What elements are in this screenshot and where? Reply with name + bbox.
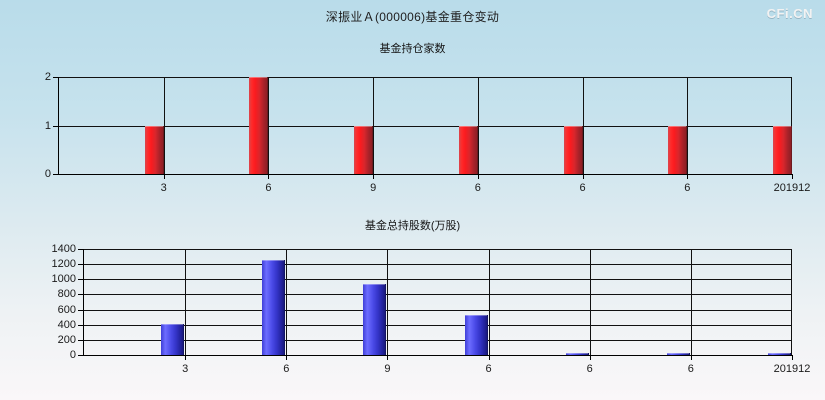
x-axis-tick xyxy=(687,174,688,179)
bar-top-highlight xyxy=(768,353,790,354)
bar-top-highlight xyxy=(354,126,372,127)
y-axis-tick xyxy=(78,279,84,280)
x-axis-label: 6 xyxy=(688,363,694,375)
gridline-vertical xyxy=(185,249,186,355)
x-axis-tick xyxy=(164,174,165,179)
gridline-vertical xyxy=(478,77,479,174)
bar-top-highlight xyxy=(773,126,791,127)
bar xyxy=(667,353,690,355)
gridline-vertical xyxy=(791,249,792,355)
y-axis-label: 400 xyxy=(58,319,76,331)
bar-top-highlight xyxy=(262,260,284,261)
bar xyxy=(768,353,791,355)
x-axis-label: 3 xyxy=(182,363,188,375)
x-axis-label: 6 xyxy=(486,363,492,375)
gridline-horizontal xyxy=(84,294,792,295)
bar-top-highlight xyxy=(363,284,385,285)
y-axis-label: 600 xyxy=(58,304,76,316)
gridline-vertical xyxy=(164,77,165,174)
gridline-vertical xyxy=(286,249,287,355)
x-axis-label: 3 xyxy=(161,182,167,194)
x-axis-tick xyxy=(590,355,591,360)
bar xyxy=(465,315,488,355)
x-axis-tick xyxy=(268,174,269,179)
gridline-horizontal xyxy=(84,249,792,250)
y-axis-tick xyxy=(78,325,84,326)
bar-top-highlight xyxy=(465,315,487,316)
y-axis-tick xyxy=(78,264,84,265)
bar xyxy=(773,126,792,175)
x-axis-label: 9 xyxy=(384,363,390,375)
x-axis-label: 6 xyxy=(684,182,690,194)
bar xyxy=(564,126,583,175)
y-axis-label: 200 xyxy=(58,334,76,346)
x-axis-tick xyxy=(792,355,793,360)
chart-page: 深振业Ａ(000006)基金重仓变动 CFi.CN 基金持仓家数 基金总持股数(… xyxy=(0,0,825,400)
chart2-title: 基金总持股数(万股) xyxy=(0,217,825,233)
bar-top-highlight xyxy=(566,353,588,354)
bar xyxy=(262,260,285,355)
x-axis-label: 6 xyxy=(475,182,481,194)
gridline-vertical xyxy=(489,249,490,355)
y-axis-tick xyxy=(53,174,59,175)
x-axis-label: 201912 xyxy=(774,363,811,375)
x-axis-label: 6 xyxy=(587,363,593,375)
y-axis-tick xyxy=(78,355,84,356)
x-axis-tick xyxy=(583,174,584,179)
bar-top-highlight xyxy=(564,126,582,127)
site-watermark: CFi.CN xyxy=(767,6,813,21)
x-axis-label: 6 xyxy=(265,182,271,194)
x-axis-label: 9 xyxy=(370,182,376,194)
chart1-plot-area: 012369666201912 xyxy=(58,77,792,175)
x-axis-tick xyxy=(691,355,692,360)
chart1-title: 基金持仓家数 xyxy=(0,40,825,56)
x-axis-tick xyxy=(387,355,388,360)
bar xyxy=(363,284,386,355)
y-axis-tick xyxy=(78,340,84,341)
gridline-vertical xyxy=(687,77,688,174)
y-axis-tick xyxy=(78,294,84,295)
bar xyxy=(668,126,687,175)
gridline-horizontal xyxy=(59,77,792,78)
y-axis-label: 1200 xyxy=(52,258,76,270)
fund-total-shares-chart: 0200400600800100012001400369666201912 xyxy=(0,242,825,364)
bar-top-highlight xyxy=(145,126,163,127)
x-axis-tick xyxy=(478,174,479,179)
bar-top-highlight xyxy=(668,126,686,127)
x-axis-label: 6 xyxy=(580,182,586,194)
y-axis-tick xyxy=(78,249,84,250)
x-axis-tick xyxy=(286,355,287,360)
y-axis-tick xyxy=(78,310,84,311)
gridline-horizontal xyxy=(84,279,792,280)
gridline-vertical xyxy=(387,249,388,355)
gridline-vertical xyxy=(691,249,692,355)
gridline-vertical xyxy=(583,77,584,174)
bar-top-highlight xyxy=(459,126,477,127)
bar xyxy=(161,324,184,355)
bar xyxy=(249,77,268,174)
chart2-plot-area: 0200400600800100012001400369666201912 xyxy=(83,249,792,356)
bar xyxy=(354,126,373,175)
x-axis-label: 6 xyxy=(283,363,289,375)
y-axis-label: 1000 xyxy=(52,273,76,285)
x-axis-tick xyxy=(373,174,374,179)
y-axis-tick xyxy=(53,77,59,78)
y-axis-label: 2 xyxy=(45,71,51,83)
gridline-vertical xyxy=(373,77,374,174)
bar-top-highlight xyxy=(161,324,183,325)
fund-holder-count-chart: 012369666201912 xyxy=(0,62,825,184)
bar-top-highlight xyxy=(249,77,267,78)
bar xyxy=(145,126,164,175)
x-axis-tick xyxy=(489,355,490,360)
y-axis-label: 1 xyxy=(45,120,51,132)
gridline-horizontal xyxy=(84,264,792,265)
y-axis-label: 1400 xyxy=(52,243,76,255)
bar xyxy=(566,353,589,355)
gridline-vertical xyxy=(590,249,591,355)
gridline-horizontal xyxy=(84,325,792,326)
y-axis-label: 0 xyxy=(45,168,51,180)
y-axis-label: 0 xyxy=(70,349,76,361)
gridline-horizontal xyxy=(84,340,792,341)
gridline-horizontal xyxy=(84,310,792,311)
x-axis-label: 201912 xyxy=(774,182,811,194)
bar xyxy=(459,126,478,175)
x-axis-tick xyxy=(792,174,793,179)
y-axis-tick xyxy=(53,126,59,127)
x-axis-tick xyxy=(185,355,186,360)
bar-top-highlight xyxy=(667,353,689,354)
y-axis-label: 800 xyxy=(58,288,76,300)
gridline-vertical xyxy=(268,77,269,174)
page-title: 深振业Ａ(000006)基金重仓变动 xyxy=(0,8,825,25)
